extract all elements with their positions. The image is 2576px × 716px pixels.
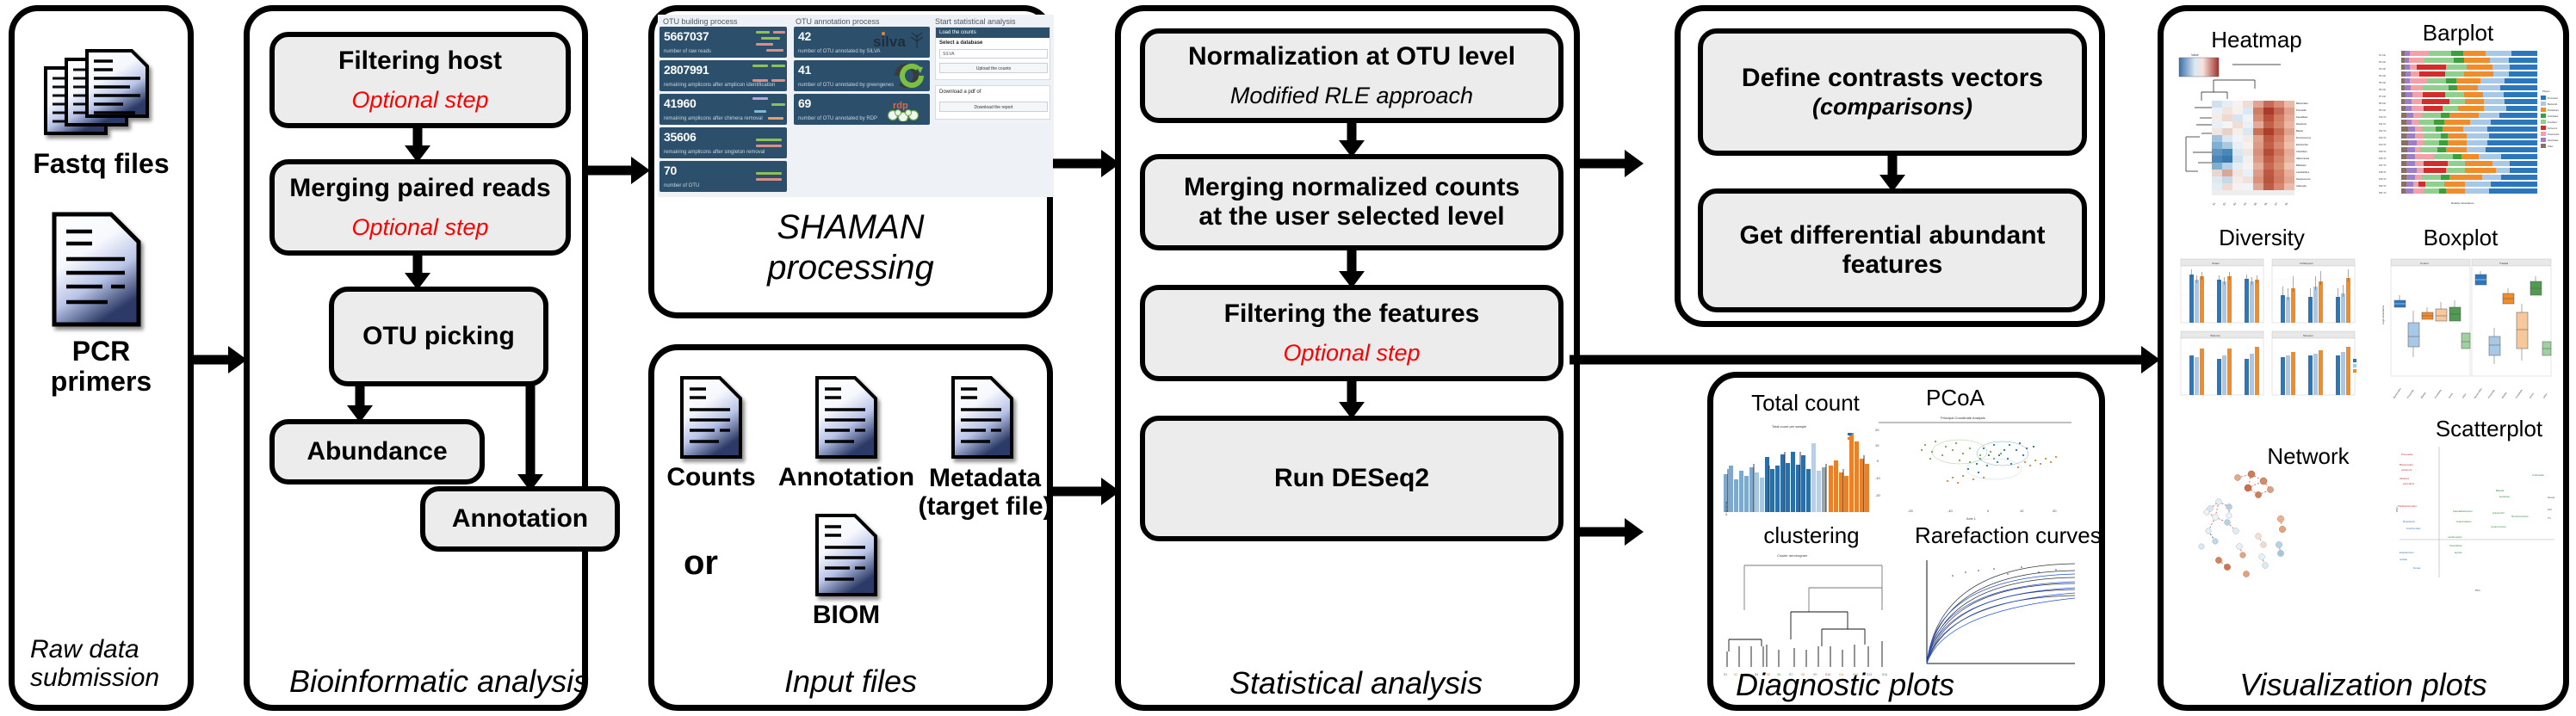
svg-text:Chao1: Chao1 <box>2212 262 2220 265</box>
svg-text:Clostridium: Clostridium <box>2296 150 2307 153</box>
panel-label-visualization: Visualization plots <box>2164 667 2563 703</box>
step-note: Modified RLE approach <box>1230 83 1473 109</box>
svg-text:Blautia: Blautia <box>2420 391 2427 398</box>
shaman-download-report-button[interactable]: Download the report <box>939 102 1048 112</box>
step-title: OTU picking <box>362 322 515 351</box>
svg-text:Spirochaet.: Spirochaet. <box>2548 139 2559 142</box>
svg-text:Principal Coordinate Analysis: Principal Coordinate Analysis <box>1941 416 1985 420</box>
file-icon <box>49 209 146 330</box>
svg-text:Dorea: Dorea <box>2448 392 2455 399</box>
step-abundance[interactable]: Abundance <box>269 419 485 485</box>
step-title-line2: at the user selected level <box>1198 202 1504 231</box>
svg-text:Blautia: Blautia <box>2501 391 2508 398</box>
arrow-statistical-to-visualization <box>1570 344 2164 375</box>
panel-bioinformatic-analysis: Filtering host Optional step Merging pai… <box>244 5 588 711</box>
step-normalization-otu[interactable]: Normalization at OTU level Modified RLE … <box>1140 28 1564 123</box>
arrow-filtering-to-deseq2 <box>1334 378 1369 419</box>
svg-text:Simpson: Simpson <box>2303 334 2313 337</box>
svg-text:S7: S7 <box>2274 201 2279 207</box>
svg-text:rectale: rectale <box>2400 558 2407 561</box>
metadata-caption: Metadata (target file) <box>913 464 1057 521</box>
step-merging-paired-reads[interactable]: Merging paired reads Optional step <box>269 159 571 256</box>
svg-text:Streptococcus: Streptococcus <box>2296 177 2311 181</box>
svg-text:P9 Ctrl: P9 Ctrl <box>2379 108 2386 112</box>
svg-text:prausnitzii: prausnitzii <box>2492 511 2505 515</box>
arrow-merging-to-filtering <box>1334 247 1369 288</box>
svg-text:wexlerae: wexlerae <box>2499 495 2510 498</box>
svg-text:Group: Group <box>2548 496 2555 499</box>
svg-text:S1: S1 <box>2212 201 2217 207</box>
arrow-inputfiles-to-statistical <box>1053 476 1118 507</box>
shaman-upload-counts-button[interactable]: Upload the counts <box>939 63 1048 73</box>
svg-text:Alistipes: Alistipes <box>2400 477 2410 480</box>
shaman-card[interactable]: 35606 remaining amplicons after singleto… <box>659 127 787 158</box>
svg-text:Faecalibact.: Faecalibact. <box>2296 115 2308 119</box>
svg-text:Faecalibacterium: Faecalibacterium <box>2453 509 2473 513</box>
svg-text:Roseburia: Roseburia <box>2434 388 2443 398</box>
panel-statistical-analysis: Normalization at OTU level Modified RLE … <box>1115 5 1580 711</box>
step-annotation[interactable]: Annotation <box>420 486 620 552</box>
svg-text:P7 Ctrl: P7 Ctrl <box>2379 95 2386 98</box>
step-run-deseq2[interactable]: Run DESeq2 <box>1140 416 1564 541</box>
svg-text:rdp: rdp <box>893 101 908 111</box>
thumb-scatterplot: PC2 PC1 Prevotella Bacteroides uniformis… <box>2394 443 2567 608</box>
arrow-rawdata-to-bioinformatic <box>194 344 245 375</box>
panel-input-files: Counts Annotation <box>648 344 1053 711</box>
panel-label-bioinformatic: Bioinformatic analysis <box>270 664 582 700</box>
svg-text:Bacteroides: Bacteroides <box>2393 386 2403 398</box>
svg-text:Bacteroid.: Bacteroid. <box>2548 102 2558 106</box>
plot-title-clustering: clustering <box>1743 522 1880 549</box>
file-stack-icon <box>34 44 180 147</box>
svg-text:Coprococcus: Coprococcus <box>2491 525 2506 528</box>
workflow-diagram: Fastq files <box>0 0 2576 716</box>
step-title: Abundance <box>307 437 447 466</box>
svg-text:Bacteroides: Bacteroides <box>2296 102 2308 105</box>
panel-contrasts: Define contrasts vectors (comparisons) G… <box>1675 5 2105 327</box>
greengenes-logo-icon <box>878 64 926 88</box>
or-label: or <box>684 544 718 583</box>
shaman-card[interactable]: 5667037 number of raw reads <box>659 27 787 58</box>
shaman-card-caption: number of raw reads <box>664 49 711 54</box>
arrow-normalization-to-merging <box>1334 120 1369 157</box>
raw-data-line2: submission <box>30 664 159 692</box>
thumb-heatmap: Value <box>2176 51 2348 218</box>
step-title: Define contrasts vectors <box>1742 64 2043 93</box>
thumb-total-count: Total count per sample <box>1718 417 1873 515</box>
step-title-line1: Merging normalized counts <box>1184 173 1520 201</box>
shaman-card-caption: remaining amplicons after chimera remova… <box>664 116 763 121</box>
panel-visualization-plots: Heatmap Value <box>2158 5 2569 711</box>
svg-text:PC1: PC1 <box>2475 589 2480 592</box>
arrow-statistical-to-contrasts <box>1580 148 1644 179</box>
svg-text:Actinobact.: Actinobact. <box>2548 114 2559 118</box>
svg-text:Tenericutes: Tenericutes <box>2548 133 2560 136</box>
shaman-download-card[interactable]: Download a pdf of Download the report <box>935 85 1050 120</box>
svg-text:P11 Trt: P11 Trt <box>2379 122 2386 126</box>
step-title: Run DESeq2 <box>1274 464 1429 493</box>
step-filtering-host[interactable]: Filtering host Optional step <box>269 32 571 128</box>
panel-raw-data-submission: Fastq files <box>9 5 194 711</box>
svg-text:S4: S4 <box>2243 201 2248 207</box>
svg-text:Verrucom.: Verrucom. <box>2548 127 2558 130</box>
step-note: Optional step <box>351 88 488 114</box>
pcr-primers-caption: PCR primers <box>15 336 188 396</box>
svg-text:Roseburia: Roseburia <box>2515 388 2523 398</box>
rdp-logo-icon: rdp <box>884 97 926 121</box>
svg-text:uniformis: uniformis <box>2401 468 2412 472</box>
shaman-card[interactable]: 2807991 remaining amplicons after amplic… <box>659 60 787 91</box>
shaman-database-select[interactable]: SILVA <box>939 49 1048 59</box>
svg-text:P3 Ctrl: P3 Ctrl <box>2379 67 2386 71</box>
svg-text:Parabacteroides: Parabacteroides <box>2398 504 2417 508</box>
thumb-barplot: P1 CtrlP2 CtrlP3 Ctrl P4 CtrlP5 CtrlP6 C… <box>2377 47 2563 219</box>
arrow-merging-to-otu <box>400 252 435 290</box>
step-note: (comparisons) <box>1812 95 1972 120</box>
svg-text:Lactobacillus: Lactobacillus <box>2296 170 2310 174</box>
svg-text:P19 Trt: P19 Trt <box>2379 177 2387 181</box>
svg-text:P14 Trt: P14 Trt <box>2379 143 2387 146</box>
svg-text:Axis 1: Axis 1 <box>1966 516 1977 521</box>
svg-text:Roseburia: Roseburia <box>2296 122 2307 126</box>
step-title: Merging paired reads <box>289 174 550 203</box>
step-title: Annotation <box>452 504 588 534</box>
svg-text:P4 Ctrl: P4 Ctrl <box>2379 74 2386 77</box>
step-note: Optional step <box>1283 341 1420 367</box>
shaman-col-heading-otu-building: OTU building process <box>663 17 738 26</box>
svg-text:Prevotella: Prevotella <box>2487 388 2496 398</box>
shaman-card-caption: number of OTU annotated by RDP <box>798 116 877 121</box>
thumb-diversity: Chao1 InvSimpson <box>2176 256 2362 398</box>
svg-text:Collinsella: Collinsella <box>2532 473 2544 477</box>
file-icon <box>678 374 744 460</box>
shaman-card-value: 2807991 <box>664 63 709 77</box>
panel-label-shaman: SHAMAN processing <box>654 207 1047 288</box>
svg-text:Relative abundance: Relative abundance <box>2451 201 2474 205</box>
svg-text:0: 0 <box>1987 509 1990 513</box>
shaman-card[interactable]: 42 number of OTU annotated by SILVA silv… <box>794 27 930 58</box>
svg-text:Bacteroides: Bacteroides <box>2400 463 2413 466</box>
svg-text:Dorea: Dorea <box>2413 566 2421 570</box>
svg-text:Control: Control <box>2420 262 2429 265</box>
svg-text:P6 Ctrl: P6 Ctrl <box>2379 88 2386 91</box>
svg-text:Prevotella: Prevotella <box>2401 453 2413 456</box>
shaman-col-heading-annotation: OTU annotation process <box>796 17 880 26</box>
panel-label-statistical: Statistical analysis <box>1121 665 1574 701</box>
step-merging-normalized-counts[interactable]: Merging normalized counts at the user se… <box>1140 154 1564 250</box>
panel-diagnostic-plots: Total count Total count per sample <box>1707 372 2105 711</box>
thumb-pcoa: Principal Coordinate Analysis 20100 -10-… <box>1873 412 2077 522</box>
svg-text:Blautia: Blautia <box>2496 489 2505 492</box>
thumb-network <box>2184 469 2365 650</box>
file-icon <box>950 374 1015 460</box>
svg-text:Trt: Trt <box>2548 516 2551 520</box>
file-icon <box>814 512 879 598</box>
shaman-label-line1: SHAMAN <box>777 208 924 246</box>
arrow-shaman-to-statistical <box>1053 148 1118 179</box>
svg-text:Other: Other <box>2461 392 2468 399</box>
step-define-contrasts-vectors[interactable]: Define contrasts vectors (comparisons) <box>1698 28 2087 156</box>
svg-text:20: 20 <box>1875 428 1879 432</box>
svg-text:Other: Other <box>2542 392 2548 399</box>
shaman-card-value: 5667037 <box>664 29 709 43</box>
panel-shaman-processing: OTU building process OTU annotation proc… <box>648 5 1053 318</box>
shaman-label-line2: processing <box>767 249 933 287</box>
shaman-card-caption: number of OTU <box>664 183 699 188</box>
svg-text:Proteobact.: Proteobact. <box>2548 108 2560 112</box>
svg-text:P2 Ctrl: P2 Ctrl <box>2379 60 2386 64</box>
svg-text:Eubacterium: Eubacterium <box>2400 551 2414 554</box>
step-title: Filtering host <box>338 46 502 76</box>
svg-text:Blautia: Blautia <box>2296 129 2303 133</box>
arrow-contrasts-to-differential <box>1875 152 1910 192</box>
thumb-clustering: Cluster dendrogram S1S2 S <box>1718 550 1908 677</box>
svg-text:Ctrl: Ctrl <box>2548 508 2552 511</box>
metadata-line2: (target file) <box>918 492 1051 521</box>
svg-text:Firmicutes: Firmicutes <box>2548 96 2559 100</box>
svg-text:Bacteroides: Bacteroides <box>2474 386 2484 398</box>
svg-text:Akkermansia: Akkermansia <box>2296 157 2310 160</box>
plot-title-pcoa: PCoA <box>1882 385 2028 411</box>
shaman-field-label: Select a database <box>939 40 982 46</box>
shaman-card[interactable]: 70 number of OTU <box>659 161 787 192</box>
plot-title-scatterplot: Scatterplot <box>2413 416 2565 442</box>
svg-text:-20: -20 <box>1875 493 1881 497</box>
shaman-card-caption: remaining amplicons after amplicon ident… <box>664 83 775 88</box>
shaman-download-label: Download a pdf of <box>939 89 981 95</box>
plot-title-total-count: Total count <box>1732 390 1879 417</box>
plot-title-barplot: Barplot <box>2389 20 2527 46</box>
plot-title-heatmap: Heatmap <box>2179 27 2334 53</box>
step-title-line2: features <box>1842 250 1943 279</box>
biom-caption: BIOM <box>785 602 907 629</box>
svg-text:-20: -20 <box>1908 509 1914 513</box>
step-otu-picking[interactable]: OTU picking <box>329 287 548 386</box>
step-note: Optional step <box>351 215 488 241</box>
svg-text:Prevotella: Prevotella <box>2406 388 2415 398</box>
svg-text:P18 Trt: P18 Trt <box>2379 170 2387 174</box>
arrow-filtering-to-merging <box>400 125 435 163</box>
shaman-card-value: 41 <box>798 63 811 77</box>
shaman-card-title: Load the counts <box>936 28 1050 38</box>
svg-text:S3: S3 <box>2232 201 2238 207</box>
step-filtering-the-features[interactable]: Filtering the features Optional step <box>1140 285 1564 381</box>
svg-text:P12 Trt: P12 Trt <box>2379 129 2387 133</box>
step-get-differential-abundant-features[interactable]: Get differential abundant features <box>1698 188 2087 312</box>
step-title: Filtering the features <box>1224 299 1480 329</box>
svg-text:Shannon: Shannon <box>2210 334 2220 337</box>
svg-text:Clostridium: Clostridium <box>2449 544 2463 547</box>
svg-text:Lachnospira: Lachnospira <box>2448 535 2462 539</box>
svg-text:P8 Ctrl: P8 Ctrl <box>2379 102 2386 105</box>
svg-text:Other: Other <box>2548 145 2554 148</box>
svg-text:P17 Trt: P17 Trt <box>2379 164 2387 167</box>
svg-text:Roseburia: Roseburia <box>2403 520 2415 523</box>
file-icon <box>814 374 879 460</box>
svg-text:P13 Trt: P13 Trt <box>2379 136 2387 139</box>
svg-text:Total count per sample: Total count per sample <box>1772 424 1807 429</box>
svg-text:Log2 abundance: Log2 abundance <box>2381 305 2385 324</box>
svg-text:Treated: Treated <box>2499 262 2509 265</box>
svg-text:P20 Trt: P20 Trt <box>2379 184 2387 188</box>
silva-logo-icon: silva <box>872 29 927 53</box>
shaman-screenshot[interactable]: OTU building process OTU annotation proc… <box>658 15 1054 197</box>
svg-text:P1 Ctrl: P1 Ctrl <box>2379 53 2386 57</box>
plot-title-rarefaction: Rarefaction curves <box>1915 522 2080 549</box>
step-title: Merging normalized counts at the user se… <box>1184 173 1520 231</box>
svg-text:P5 Ctrl: P5 Ctrl <box>2379 81 2386 84</box>
arrow-otu-to-annotation <box>513 383 548 491</box>
thumb-rarefaction <box>1918 555 2082 672</box>
svg-text:10: 10 <box>1875 443 1879 447</box>
plot-title-boxplot: Boxplot <box>2396 225 2525 251</box>
svg-text:S6: S6 <box>2263 201 2269 207</box>
svg-text:-10: -10 <box>1875 476 1881 480</box>
svg-text:Fusobact.: Fusobact. <box>2548 120 2558 124</box>
raw-data-line1: Raw data <box>30 635 139 664</box>
shaman-card[interactable]: 41960 remaining amplicons after chimera … <box>659 94 787 125</box>
step-title: Get differential abundant features <box>1739 221 2045 279</box>
svg-text:20: 20 <box>2053 509 2057 513</box>
arrow-otu-to-abundance <box>343 383 377 423</box>
svg-text:silva: silva <box>873 34 906 50</box>
annotation-caption: Annotation <box>765 464 928 491</box>
plot-title-network: Network <box>2239 443 2377 470</box>
metadata-line1: Metadata <box>929 464 1041 492</box>
svg-text:Ruminococcus: Ruminococcus <box>2511 515 2529 518</box>
arrow-statistical-to-diagnostic <box>1580 516 1644 547</box>
panel-label-diagnostic: Diagnostic plots <box>1713 667 2099 703</box>
svg-text:Phylum: Phylum <box>2542 89 2550 93</box>
shaman-card[interactable]: 41 number of OTU annotated by greengenes <box>794 60 930 91</box>
arrow-bioinformatic-to-shaman <box>588 155 648 186</box>
svg-text:0: 0 <box>1877 459 1879 463</box>
svg-text:P16 Trt: P16 Trt <box>2379 157 2387 160</box>
shaman-card-value: 70 <box>664 164 677 177</box>
plot-title-diversity: Diversity <box>2184 225 2339 251</box>
svg-text:-10: -10 <box>1947 509 1954 513</box>
shaman-col-heading-statistics: Start statistical analysis <box>935 17 1016 26</box>
svg-text:S5: S5 <box>2253 201 2258 207</box>
svg-text:Dorea: Dorea <box>2529 392 2536 399</box>
shaman-card-value: 41960 <box>664 96 696 110</box>
pcr-primers-line2: primers <box>51 366 152 397</box>
shaman-card-caption: remaining amplicons after singleton remo… <box>664 150 765 155</box>
svg-text:Veillonella: Veillonella <box>2296 184 2307 188</box>
shaman-load-counts-card[interactable]: Load the counts Select a database SILVA … <box>935 27 1050 80</box>
fastq-files-caption: Fastq files <box>15 149 188 179</box>
svg-text:P10 Trt: P10 Trt <box>2379 115 2387 119</box>
svg-text:S2: S2 <box>2222 201 2227 207</box>
svg-text:Ruminococcus: Ruminococcus <box>2296 136 2312 139</box>
svg-text:Cluster dendrogram: Cluster dendrogram <box>1777 553 1808 558</box>
counts-caption: Counts <box>659 464 763 491</box>
svg-text:Anaerostipes: Anaerostipes <box>2456 520 2472 523</box>
svg-text:InvSimpson: InvSimpson <box>2300 262 2313 265</box>
shaman-card-value: 42 <box>798 29 811 43</box>
step-title-line1: Get differential abundant <box>1739 221 2045 250</box>
thumb-boxplot: Control Treated Log2 abundance <box>2379 256 2561 402</box>
svg-text:Bifidobact.: Bifidobact. <box>2296 164 2307 167</box>
svg-text:S1 S2 S3 S4: S1 S2 S3 S4 <box>1725 501 1728 515</box>
svg-text:Prevotella: Prevotella <box>2296 108 2307 112</box>
svg-text:leptum: leptum <box>2455 551 2463 554</box>
step-title: Normalization at OTU level <box>1188 42 1515 71</box>
shaman-card-value: 35606 <box>664 130 696 144</box>
shaman-card-value: 69 <box>798 96 811 110</box>
svg-text:P21 Trt: P21 Trt <box>2379 191 2387 194</box>
svg-text:S8: S8 <box>2284 201 2289 207</box>
svg-text:10: 10 <box>2020 509 2024 513</box>
shaman-card[interactable]: 69 number of OTU annotated by RDP rdp <box>794 94 930 125</box>
svg-text:putredinis: putredinis <box>2403 482 2415 485</box>
shaman-card-caption: number of OTU annotated by SILVA <box>798 49 881 54</box>
pcr-primers-line1: PCR <box>72 336 131 367</box>
svg-text:inulinivorans: inulinivorans <box>2406 527 2421 530</box>
panel-label-raw-data: Raw data submission <box>30 635 159 693</box>
svg-text:Value: Value <box>2191 53 2199 57</box>
panel-label-input-files: Input files <box>654 664 1047 700</box>
svg-text:P15 Trt: P15 Trt <box>2379 150 2387 153</box>
svg-text:Escherichia: Escherichia <box>2296 143 2308 146</box>
